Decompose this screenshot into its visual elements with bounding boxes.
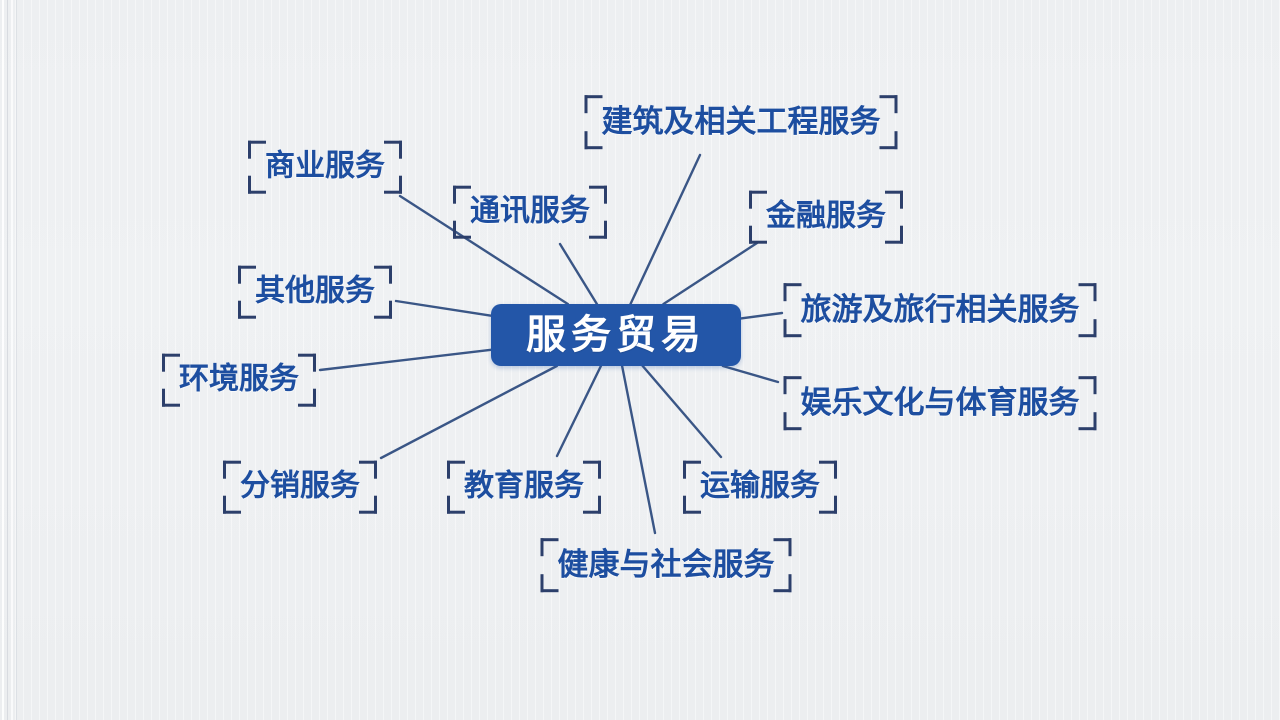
corner-bracket-tl-icon (683, 461, 701, 479)
leaf-node-environmental-services[interactable]: 环境服务 (162, 354, 316, 407)
leaf-node-label: 商业服务 (265, 152, 385, 183)
leaf-node-label: 金融服务 (766, 202, 886, 233)
leaf-node-other-services[interactable]: 其他服务 (238, 266, 392, 319)
connector-other-services (396, 301, 491, 316)
corner-bracket-tr-icon (1079, 283, 1097, 301)
corner-bracket-tl-icon (749, 191, 767, 209)
leaf-node-construction-and-related-engineering-services[interactable]: 建筑及相关工程服务 (585, 95, 898, 149)
connector-health-and-social-services (622, 366, 655, 533)
corner-bracket-br-icon (880, 131, 898, 149)
corner-bracket-bl-icon (541, 574, 559, 592)
corner-bracket-tr-icon (583, 461, 601, 479)
corner-bracket-tl-icon (162, 354, 180, 372)
corner-bracket-br-icon (774, 574, 792, 592)
corner-bracket-tl-icon (784, 283, 802, 301)
connector-environmental-services (320, 350, 491, 370)
corner-bracket-tr-icon (384, 141, 402, 159)
corner-bracket-tr-icon (880, 95, 898, 113)
corner-bracket-tr-icon (774, 538, 792, 556)
corner-bracket-tr-icon (819, 461, 837, 479)
leaf-node-education-services[interactable]: 教育服务 (447, 461, 601, 514)
corner-bracket-tr-icon (359, 461, 377, 479)
corner-bracket-br-icon (885, 225, 903, 243)
corner-bracket-br-icon (1079, 319, 1097, 337)
leaf-node-label: 分销服务 (240, 472, 360, 503)
corner-bracket-tl-icon (585, 95, 603, 113)
corner-bracket-tr-icon (1079, 376, 1097, 394)
corner-bracket-tl-icon (784, 376, 802, 394)
leaf-node-label: 娱乐文化与体育服务 (801, 387, 1080, 419)
corner-bracket-br-icon (589, 220, 607, 238)
corner-bracket-bl-icon (453, 220, 471, 238)
leaf-node-label: 健康与社会服务 (558, 549, 775, 581)
leaf-node-label: 通讯服务 (470, 197, 590, 228)
corner-bracket-bl-icon (162, 388, 180, 406)
diagram-canvas: 服务贸易 商业服务通讯服务建筑及相关工程服务金融服务旅游及旅行相关服务娱乐文化与… (0, 0, 1280, 720)
corner-bracket-br-icon (819, 495, 837, 513)
connector-recreational-cultural-and-sporting-services (723, 366, 778, 382)
connector-financial-services (664, 243, 758, 304)
corner-bracket-bl-icon (447, 495, 465, 513)
center-node-label: 服务贸易 (522, 315, 710, 355)
corner-bracket-br-icon (359, 495, 377, 513)
corner-bracket-tl-icon (447, 461, 465, 479)
connector-distribution-services (381, 366, 557, 458)
corner-bracket-br-icon (374, 300, 392, 318)
leaf-node-financial-services[interactable]: 金融服务 (749, 191, 903, 244)
corner-bracket-tl-icon (238, 266, 256, 284)
corner-bracket-bl-icon (223, 495, 241, 513)
connector-education-services (557, 366, 601, 456)
corner-bracket-br-icon (583, 495, 601, 513)
corner-bracket-br-icon (298, 388, 316, 406)
leaf-node-label: 旅游及旅行相关服务 (801, 294, 1080, 326)
leaf-node-recreational-cultural-and-sporting-services[interactable]: 娱乐文化与体育服务 (784, 376, 1097, 430)
corner-bracket-tr-icon (374, 266, 392, 284)
leaf-node-label: 建筑及相关工程服务 (602, 106, 881, 138)
leaf-node-distribution-services[interactable]: 分销服务 (223, 461, 377, 514)
corner-bracket-bl-icon (248, 175, 266, 193)
leaf-node-label: 环境服务 (179, 365, 299, 396)
leaf-node-label: 教育服务 (464, 472, 584, 503)
connector-construction-and-related-engineering-services (631, 155, 701, 304)
corner-bracket-tr-icon (298, 354, 316, 372)
connector-communication-services (560, 244, 597, 304)
center-node-service-trade[interactable]: 服务贸易 (491, 304, 741, 366)
connector-transport-services (643, 366, 721, 457)
corner-bracket-tl-icon (248, 141, 266, 159)
corner-bracket-bl-icon (585, 131, 603, 149)
leaf-node-health-and-social-services[interactable]: 健康与社会服务 (541, 538, 792, 592)
leaf-node-tourism-and-travel-related-services[interactable]: 旅游及旅行相关服务 (784, 283, 1097, 337)
leaf-node-transport-services[interactable]: 运输服务 (683, 461, 837, 514)
corner-bracket-bl-icon (238, 300, 256, 318)
corner-bracket-tl-icon (453, 186, 471, 204)
corner-bracket-bl-icon (749, 225, 767, 243)
leaf-node-communication-services[interactable]: 通讯服务 (453, 186, 607, 239)
corner-bracket-tl-icon (541, 538, 559, 556)
corner-bracket-br-icon (384, 175, 402, 193)
corner-bracket-tl-icon (223, 461, 241, 479)
leaf-node-label: 运输服务 (700, 472, 820, 503)
corner-bracket-tr-icon (885, 191, 903, 209)
corner-bracket-bl-icon (784, 319, 802, 337)
leaf-node-business-services[interactable]: 商业服务 (248, 141, 402, 194)
corner-bracket-br-icon (1079, 412, 1097, 430)
connector-tourism-and-travel-related-services (741, 313, 782, 318)
leaf-node-label: 其他服务 (255, 277, 375, 308)
corner-bracket-tr-icon (589, 186, 607, 204)
corner-bracket-bl-icon (683, 495, 701, 513)
corner-bracket-bl-icon (784, 412, 802, 430)
